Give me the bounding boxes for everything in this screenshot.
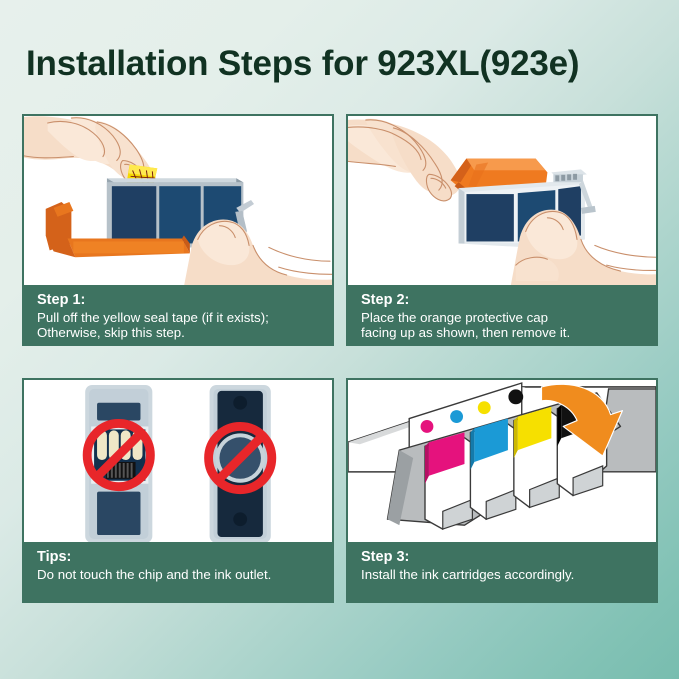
card-tips: Tips: Do not touch the chip and the ink … <box>22 378 334 603</box>
seal-tape-illustration <box>24 116 332 285</box>
caption-step-3: Step 3: Install the ink cartridges accor… <box>348 542 656 601</box>
cartridge-window-1 <box>466 194 513 241</box>
printer-carriage-illustration <box>348 380 656 542</box>
page-title: Installation Steps for 923XL(923e) <box>26 42 666 86</box>
illustration-step-1 <box>24 116 332 285</box>
caption-body: Install the ink cartridges accordingly. <box>361 567 645 582</box>
illustration-step-2 <box>348 116 656 285</box>
do-not-touch-illustration <box>24 380 332 542</box>
caption-head: Tips: <box>37 549 321 566</box>
cartridge-yellow <box>514 407 563 508</box>
illustration-tips <box>24 380 332 542</box>
magenta-dot <box>421 420 434 433</box>
black-dot <box>508 389 523 404</box>
caption-head: Step 2: <box>361 292 645 309</box>
caption-head: Step 3: <box>361 549 645 566</box>
caption-body: Do not touch the chip and the ink outlet… <box>37 567 321 582</box>
protective-cap-illustration <box>348 116 656 285</box>
caption-body: Pull off the yellow seal tape (if it exi… <box>37 310 321 341</box>
caption-step-1: Step 1: Pull off the yellow seal tape (i… <box>24 285 332 344</box>
cyan-dot <box>450 410 463 423</box>
yellow-dot <box>478 401 491 414</box>
top-window <box>97 403 140 421</box>
card-step-3: Step 3: Install the ink cartridges accor… <box>346 378 658 603</box>
installation-poster: Installation Steps for 923XL(923e) <box>0 0 679 679</box>
card-step-1: Step 1: Pull off the yellow seal tape (i… <box>22 114 334 346</box>
cartridge-window-2 <box>159 186 200 243</box>
caption-tips: Tips: Do not touch the chip and the ink … <box>24 542 332 601</box>
caption-head: Step 1: <box>37 292 321 309</box>
card-step-2: Step 2: Place the orange protective cap … <box>346 114 658 346</box>
bottom-dot <box>233 512 247 526</box>
caption-step-2: Step 2: Place the orange protective cap … <box>348 285 656 344</box>
cartridge-outlet-side-graphic <box>209 385 272 542</box>
illustration-step-3 <box>348 380 656 542</box>
bottom-window <box>97 492 140 535</box>
top-dot <box>233 396 247 410</box>
caption-body: Place the orange protective cap facing u… <box>361 310 645 341</box>
cartridge-chip-side-graphic <box>85 385 152 542</box>
cartridge-cyan <box>470 419 519 520</box>
cartridge-magenta <box>425 432 476 529</box>
cartridge-window-1 <box>112 186 156 243</box>
